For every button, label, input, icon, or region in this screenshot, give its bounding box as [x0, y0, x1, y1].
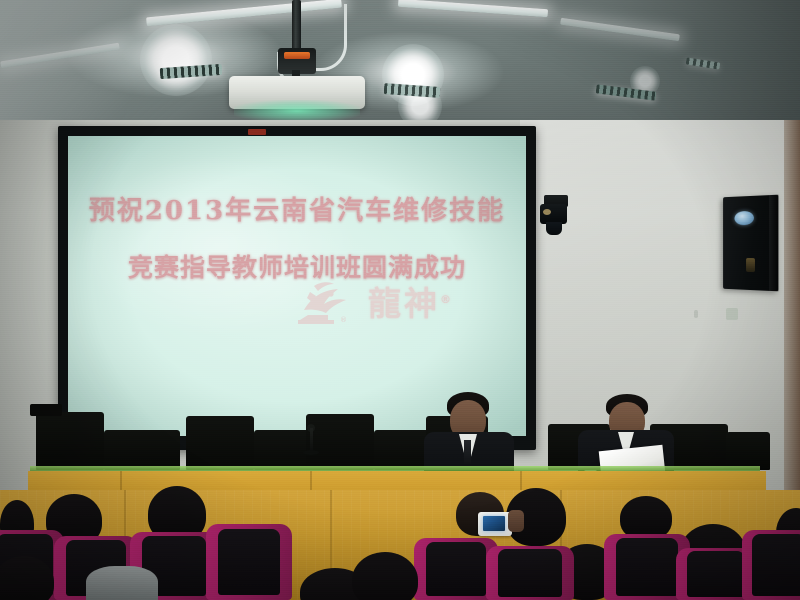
seat-pad [426, 542, 486, 597]
projection-screen: 预祝2013年云南省汽车维修技能 竞赛指导教师培训班圆满成功 ® [68, 136, 526, 436]
stage-chair-5 [306, 414, 374, 470]
projector-lens-glow [234, 100, 360, 122]
wall-camera [540, 195, 570, 235]
stage-chair-10 [726, 432, 770, 470]
wall-speaker [723, 195, 778, 292]
wall-mark-1 [694, 310, 698, 318]
speaker-side-bevel [769, 195, 778, 292]
stage-chair-3 [186, 416, 254, 470]
audience-digital-camera [478, 512, 512, 536]
screen-top-clip [248, 129, 266, 135]
screen-vignette [68, 136, 526, 436]
wall-camera-lens-icon [543, 209, 551, 215]
wall-right-edge [784, 120, 800, 490]
seat-pad [218, 529, 280, 596]
projector-mount-accent [284, 52, 310, 59]
seat-pad [752, 534, 800, 596]
audience-seat-9 [742, 530, 800, 600]
audience-seat-6 [486, 546, 574, 600]
stage-chair-1 [36, 412, 104, 470]
camera-lcd-screen [483, 516, 505, 531]
table-microphone-base [303, 450, 319, 455]
stage-chair-2 [104, 430, 180, 470]
audience-head-12 [352, 552, 418, 600]
ceiling-shadow [470, 0, 800, 132]
conference-hall-photo: 预祝2013年云南省汽车维修技能 竞赛指导教师培训班圆满成功 ® [0, 0, 800, 600]
speaker-badge [746, 258, 755, 272]
seat-pad [687, 551, 745, 597]
audience-camera-hand [508, 510, 524, 532]
presenter-left-tie [464, 440, 471, 464]
wall-mark-2 [726, 308, 738, 320]
downlight-1-icon [140, 24, 212, 96]
audience-seat-4 [206, 524, 292, 600]
seat-pad [498, 549, 561, 597]
stage-chair-1-arm [30, 404, 62, 416]
seat-pad [616, 538, 678, 596]
stage-chair-4 [254, 430, 310, 470]
speaker-tweeter-icon [734, 211, 754, 225]
wall-camera-housing [546, 222, 562, 235]
audience-shoulder-grey [86, 566, 158, 600]
